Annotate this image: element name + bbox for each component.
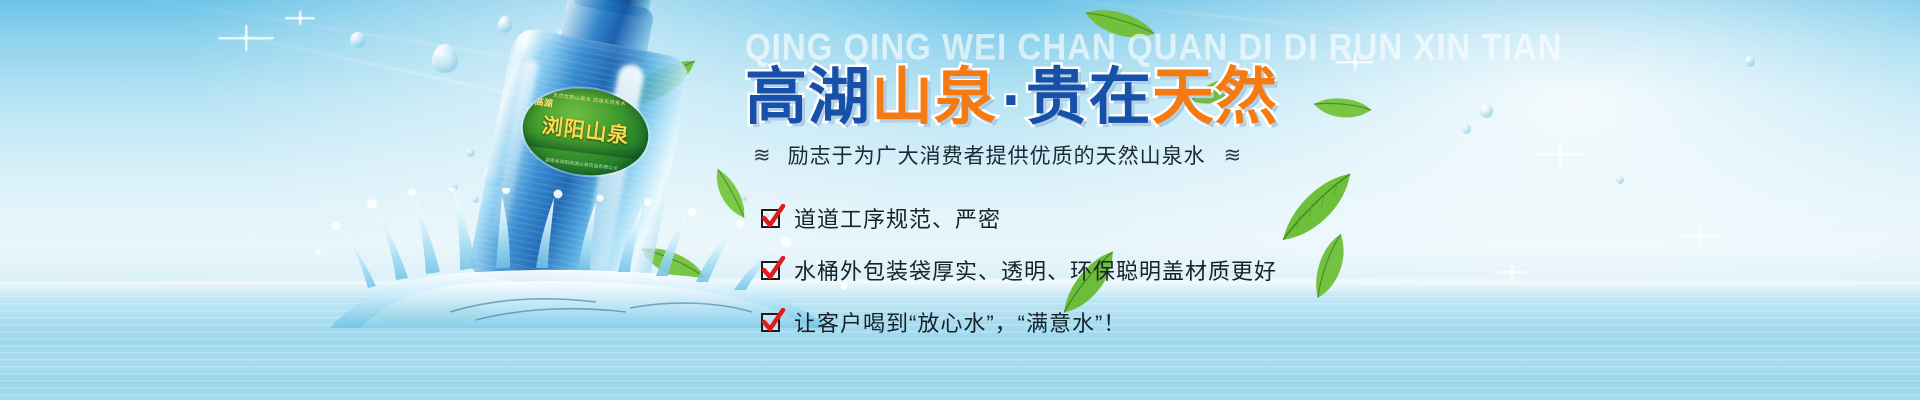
light-beam <box>560 0 1017 8</box>
checkbox-checked-icon <box>761 313 780 332</box>
water-droplet <box>452 184 458 190</box>
water-droplet <box>350 32 366 48</box>
water-droplet <box>1616 176 1624 184</box>
water-droplet <box>1745 56 1755 67</box>
bottle-label: 天然优质山泉水 饮用天然泉水 高湖 浏阳山泉 湖南省浏阳高湖山泉饮品有限公司 <box>518 81 654 182</box>
checkbox-checked-icon <box>761 261 780 280</box>
bottle-highlight <box>491 58 539 237</box>
water-droplet <box>472 196 479 203</box>
label-wave-graphic <box>520 131 647 160</box>
feature-text: 让客户喝到“放心水”，“满意水”！ <box>794 306 1126 338</box>
feature-list: 道道工序规范、严密 水桶外包装袋厚实、透明、环保聪明盖材质更好 让客户喝到“放心… <box>761 202 1545 338</box>
light-beam <box>170 20 718 138</box>
promo-banner: 天然优质山泉水 饮用天然泉水 高湖 浏阳山泉 湖南省浏阳高湖山泉饮品有限公司 <box>0 0 1920 400</box>
water-droplet <box>498 16 512 33</box>
bottle-body <box>467 26 692 308</box>
subtitle-row: ≋ 励志于为广大消费者提供优质的天然山泉水 ≋ <box>753 140 1545 170</box>
headline-separator: · <box>997 75 1026 128</box>
checkbox-checked-icon <box>761 209 780 228</box>
water-bottle-product: 天然优质山泉水 饮用天然泉水 高湖 浏阳山泉 湖南省浏阳高湖山泉饮品有限公司 <box>457 0 711 313</box>
label-main-text: 浏阳山泉 <box>521 107 650 152</box>
list-item: 水桶外包装袋厚实、透明、环保聪明盖材质更好 <box>761 254 1545 286</box>
headline-part-4: 天然 <box>1152 65 1278 128</box>
feature-text: 道道工序规范、严密 <box>794 202 1001 234</box>
headline-part-3: 贵在 <box>1026 65 1152 128</box>
bottle-cap <box>573 0 653 19</box>
water-droplet <box>484 164 504 187</box>
banner-text-block: QING QING WEI CHAN QUAN DI DI RUN XIN TI… <box>745 28 1545 358</box>
label-top-text: 天然优质山泉水 饮用天然泉水 <box>527 88 653 110</box>
water-droplet <box>515 30 545 64</box>
list-item: 让客户喝到“放心水”，“满意水”！ <box>761 306 1545 338</box>
bottle-neck <box>557 0 655 71</box>
list-item: 道道工序规范、严密 <box>761 202 1545 234</box>
light-beam <box>120 0 812 105</box>
label-bottom-text: 湖南省浏阳高湖山泉饮品有限公司 <box>519 154 645 175</box>
page-title: 高湖山泉·贵在天然 <box>745 65 1545 128</box>
headline-part-2: 山泉 <box>871 65 997 128</box>
background-pinyin-text: QING QING WEI CHAN QUAN DI DI RUN XIN TI… <box>745 28 1545 65</box>
water-droplet <box>466 148 475 157</box>
subtitle-text: 励志于为广大消费者提供优质的天然山泉水 <box>788 140 1206 170</box>
headline-part-1: 高湖 <box>745 65 871 128</box>
leaf-icon <box>709 163 750 226</box>
bottle-highlight <box>580 62 646 273</box>
feature-text: 水桶外包装袋厚实、透明、环保聪明盖材质更好 <box>794 254 1277 286</box>
wave-icon-left: ≋ <box>753 145 770 166</box>
label-brand-text: 高湖 <box>534 94 553 109</box>
water-droplet <box>432 44 458 73</box>
wave-icon-right: ≋ <box>1224 145 1241 166</box>
leaf-icon <box>614 53 706 117</box>
